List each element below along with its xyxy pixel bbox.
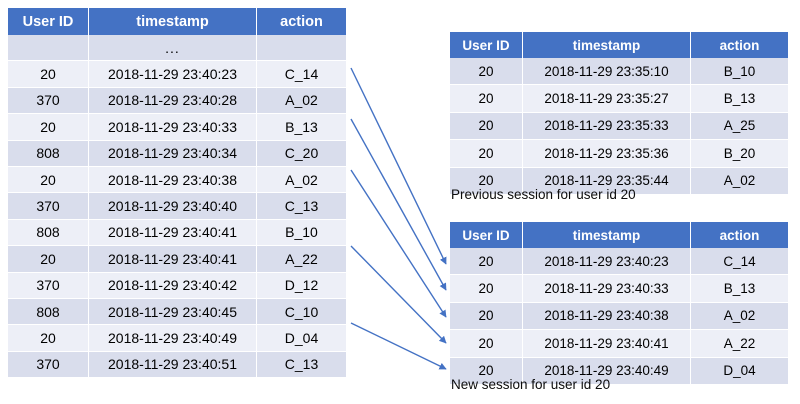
cell-user-id: 808	[8, 220, 89, 246]
table-row: 202018-11-29 23:40:38A_02	[8, 167, 346, 193]
event-log-body: ... 202018-11-29 23:40:23C_143702018-11-…	[8, 35, 346, 378]
table-row: 202018-11-29 23:40:33B_13	[450, 275, 788, 302]
cell-user-id: 20	[450, 85, 523, 112]
cell-user-id: 370	[8, 193, 89, 219]
cell-timestamp: 2018-11-29 23:40:41	[89, 220, 257, 246]
mapping-arrows	[351, 68, 446, 369]
table-row: 202018-11-29 23:40:49D_04	[8, 325, 346, 351]
cell-action: B_13	[691, 275, 788, 302]
new-session-header-row: User ID timestamp action	[450, 222, 788, 248]
cell-action: C_10	[257, 299, 346, 325]
table-row: 202018-11-29 23:40:41A_22	[450, 330, 788, 357]
cell-action: B_10	[257, 220, 346, 246]
cell-action	[257, 35, 346, 61]
previous-session-header-row: User ID timestamp action	[450, 32, 788, 58]
cell-action: A_02	[257, 167, 346, 193]
previous-session-caption: Previous session for user id 20	[451, 187, 636, 202]
cell-timestamp: 2018-11-29 23:35:36	[523, 140, 691, 167]
cell-timestamp: 2018-11-29 23:40:33	[523, 275, 691, 302]
cell-user-id: 20	[450, 140, 523, 167]
cell-action: C_14	[691, 248, 788, 275]
column-header-action: action	[257, 8, 346, 35]
cell-user-id: 20	[450, 330, 523, 357]
cell-action: C_13	[257, 193, 346, 219]
cell-action: B_10	[691, 58, 788, 85]
table-row: 3702018-11-29 23:40:40C_13	[8, 193, 346, 219]
cell-timestamp: 2018-11-29 23:40:38	[89, 167, 257, 193]
cell-action: B_13	[257, 114, 346, 140]
cell-timestamp: 2018-11-29 23:40:33	[89, 114, 257, 140]
column-header-timestamp: timestamp	[523, 222, 691, 248]
table-row: 202018-11-29 23:40:38A_02	[450, 303, 788, 330]
cell-user-id: 20	[8, 246, 89, 272]
cell-action: B_20	[691, 140, 788, 167]
table-row: 3702018-11-29 23:40:42D_12	[8, 273, 346, 299]
column-header-action: action	[691, 222, 788, 248]
cell-user-id: 20	[450, 113, 523, 140]
table-row: 3702018-11-29 23:40:51C_13	[8, 352, 346, 378]
previous-session-body: 202018-11-29 23:35:10B_10202018-11-29 23…	[450, 58, 788, 195]
cell-user-id: 808	[8, 141, 89, 167]
cell-action: A_02	[691, 168, 788, 195]
table-row: 202018-11-29 23:40:33B_13	[8, 114, 346, 140]
cell-timestamp: 2018-11-29 23:40:23	[523, 248, 691, 275]
table-row: 202018-11-29 23:35:33A_25	[450, 113, 788, 140]
cell-timestamp: 2018-11-29 23:40:49	[89, 325, 257, 351]
table-row: 202018-11-29 23:40:23C_14	[450, 248, 788, 275]
cell-user-id: 370	[8, 88, 89, 114]
column-header-user-id: User ID	[450, 222, 523, 248]
cell-action: C_20	[257, 141, 346, 167]
table-row: 202018-11-29 23:35:27B_13	[450, 85, 788, 112]
arrow-row1-to-new-session-row1	[351, 68, 446, 264]
column-header-timestamp: timestamp	[523, 32, 691, 58]
cell-timestamp: 2018-11-29 23:40:51	[89, 352, 257, 378]
new-session-body: 202018-11-29 23:40:23C_14202018-11-29 23…	[450, 248, 788, 385]
cell-timestamp: 2018-11-29 23:35:33	[523, 113, 691, 140]
cell-user-id: 20	[8, 114, 89, 140]
cell-timestamp: 2018-11-29 23:40:23	[89, 61, 257, 87]
cell-user-id: 808	[8, 299, 89, 325]
cell-timestamp: 2018-11-29 23:35:27	[523, 85, 691, 112]
table-row: 3702018-11-29 23:40:28A_02	[8, 88, 346, 114]
column-header-user-id: User ID	[8, 8, 89, 35]
cell-action: D_04	[257, 325, 346, 351]
cell-timestamp: 2018-11-29 23:40:41	[523, 330, 691, 357]
cell-action: A_22	[691, 330, 788, 357]
table-row: 8082018-11-29 23:40:34C_20	[8, 141, 346, 167]
cell-timestamp: 2018-11-29 23:40:41	[89, 246, 257, 272]
cell-ellipsis: ...	[89, 35, 257, 61]
new-session-table: User ID timestamp action 202018-11-29 23…	[450, 222, 788, 385]
cell-action: A_02	[257, 88, 346, 114]
cell-user-id	[8, 35, 89, 61]
cell-timestamp: 2018-11-29 23:35:10	[523, 58, 691, 85]
column-header-user-id: User ID	[450, 32, 523, 58]
cell-timestamp: 2018-11-29 23:40:38	[523, 303, 691, 330]
event-log-table: User ID timestamp action ... 202018-11-2…	[8, 8, 346, 378]
cell-action: C_13	[257, 352, 346, 378]
cell-timestamp: 2018-11-29 23:40:34	[89, 141, 257, 167]
cell-user-id: 20	[450, 303, 523, 330]
table-row: 202018-11-29 23:35:36B_20	[450, 140, 788, 167]
new-session-caption: New session for user id 20	[451, 377, 610, 392]
arrow-row5-to-new-session-row3	[351, 170, 446, 317]
cell-user-id: 370	[8, 273, 89, 299]
arrow-row11-to-new-session-row5	[351, 323, 446, 369]
arrow-row3-to-new-session-row2	[351, 119, 446, 290]
cell-action: D_04	[691, 358, 788, 385]
cell-user-id: 20	[450, 248, 523, 275]
cell-action: A_02	[691, 303, 788, 330]
cell-timestamp: 2018-11-29 23:40:28	[89, 88, 257, 114]
cell-timestamp: 2018-11-29 23:40:45	[89, 299, 257, 325]
cell-action: D_12	[257, 273, 346, 299]
cell-timestamp: 2018-11-29 23:40:42	[89, 273, 257, 299]
cell-action: C_14	[257, 61, 346, 87]
cell-user-id: 20	[8, 325, 89, 351]
previous-session-table: User ID timestamp action 202018-11-29 23…	[450, 32, 788, 195]
table-row: 202018-11-29 23:40:41A_22	[8, 246, 346, 272]
cell-action: A_25	[691, 113, 788, 140]
column-header-action: action	[691, 32, 788, 58]
cell-user-id: 20	[450, 275, 523, 302]
column-header-timestamp: timestamp	[89, 8, 257, 35]
cell-user-id: 370	[8, 352, 89, 378]
arrow-row8-to-new-session-row4	[351, 246, 446, 343]
table-row: 202018-11-29 23:35:10B_10	[450, 58, 788, 85]
cell-user-id: 20	[8, 167, 89, 193]
cell-action: A_22	[257, 246, 346, 272]
table-row-ellipsis: ...	[8, 35, 346, 61]
cell-user-id: 20	[450, 58, 523, 85]
table-row: 8082018-11-29 23:40:45C_10	[8, 299, 346, 325]
table-row: 202018-11-29 23:40:23C_14	[8, 61, 346, 87]
table-row: 8082018-11-29 23:40:41B_10	[8, 220, 346, 246]
cell-user-id: 20	[8, 61, 89, 87]
cell-timestamp: 2018-11-29 23:40:40	[89, 193, 257, 219]
cell-action: B_13	[691, 85, 788, 112]
event-log-header-row: User ID timestamp action	[8, 8, 346, 35]
